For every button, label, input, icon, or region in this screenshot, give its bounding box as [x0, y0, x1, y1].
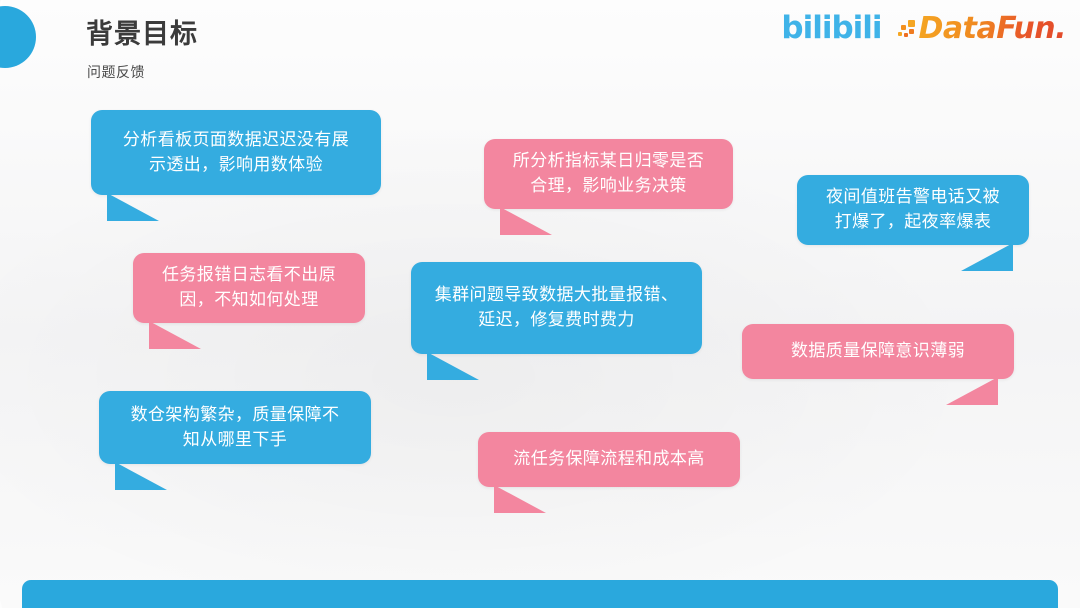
slide-root: 背景目标 问题反馈 bilibili DataFun. 分析看板页面数据迟迟没有… — [0, 0, 1080, 608]
speech-bubble-text: 数仓架构繁杂，质量保障不 知从哪里下手 — [131, 403, 340, 452]
speech-bubble-warehouse-complex: 数仓架构繁杂，质量保障不 知从哪里下手 — [99, 391, 371, 464]
bottom-bar — [22, 580, 1058, 608]
speech-bubble-error-log: 任务报错日志看不出原 因，不知如何处理 — [133, 253, 365, 323]
speech-bubble-dashboard-delay: 分析看板页面数据迟迟没有展 示透出，影响用数体验 — [91, 110, 381, 195]
speech-bubble-text: 流任务保障流程和成本高 — [513, 447, 704, 472]
speech-bubble-text: 集群问题导致数据大批量报错、 延迟，修复费时费力 — [435, 283, 679, 332]
speech-bubble-quality-awareness: 数据质量保障意识薄弱 — [742, 324, 1014, 379]
speech-bubble-text: 所分析指标某日归零是否 合理，影响业务决策 — [513, 149, 704, 198]
sparkle-icon — [898, 18, 918, 40]
speech-bubble-metric-zero: 所分析指标某日归零是否 合理，影响业务决策 — [484, 139, 733, 209]
speech-bubble-tail — [107, 193, 159, 221]
speech-bubble-tail — [149, 321, 201, 349]
speech-bubble-night-alert: 夜间值班告警电话又被 打爆了，起夜率爆表 — [797, 175, 1029, 245]
speech-bubble-tail — [494, 485, 546, 513]
speech-bubble-text: 夜间值班告警电话又被 打爆了，起夜率爆表 — [826, 185, 1000, 234]
speech-bubble-tail — [115, 462, 167, 490]
speech-bubble-stream-cost: 流任务保障流程和成本高 — [478, 432, 740, 487]
page-subtitle: 问题反馈 — [87, 62, 145, 82]
speech-bubble-text: 数据质量保障意识薄弱 — [791, 339, 965, 364]
speech-bubble-text: 分析看板页面数据迟迟没有展 示透出，影响用数体验 — [123, 128, 349, 177]
logo-row: bilibili DataFun. — [781, 13, 1066, 44]
speech-bubble-tail — [500, 207, 552, 235]
bilibili-logo: bilibili — [781, 13, 881, 44]
speech-bubble-tail — [961, 243, 1013, 271]
decorative-circle — [0, 6, 36, 68]
datafun-logo: DataFun. — [898, 14, 1066, 44]
page-title: 背景目标 — [86, 18, 198, 50]
datafun-logo-text: DataFun. — [919, 14, 1066, 44]
speech-bubble-tail — [946, 377, 998, 405]
speech-bubble-cluster-issue: 集群问题导致数据大批量报错、 延迟，修复费时费力 — [411, 262, 702, 354]
speech-bubble-text: 任务报错日志看不出原 因，不知如何处理 — [162, 263, 336, 312]
speech-bubble-tail — [427, 352, 479, 380]
